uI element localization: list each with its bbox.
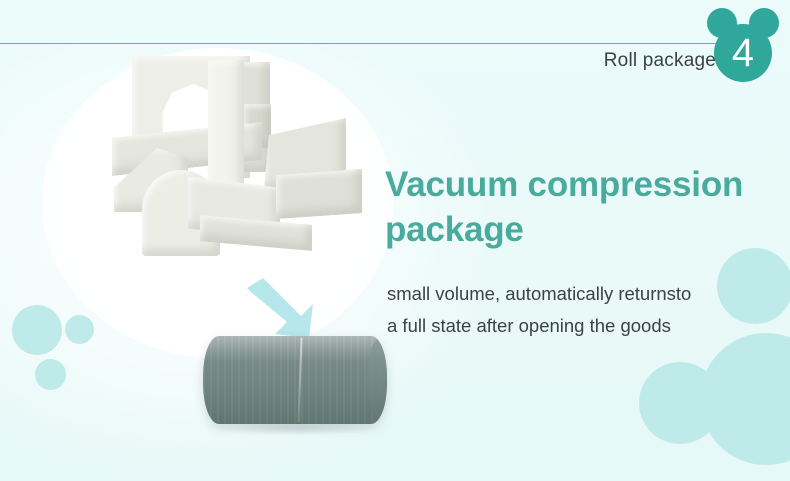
body-copy-line-1: small volume, automatically returnsto xyxy=(387,278,757,310)
header-divider xyxy=(0,43,716,44)
foam-base-seat-right xyxy=(276,169,362,219)
roll-texture xyxy=(203,336,387,424)
product-photo-foam-set xyxy=(80,52,380,292)
body-copy: small volume, automatically returnsto a … xyxy=(387,278,757,342)
headline-line-2: package xyxy=(385,208,785,253)
body-copy-line-2: a full state after opening the goods xyxy=(387,310,757,342)
flow-arrow xyxy=(243,278,315,340)
decorative-bubble xyxy=(65,315,94,344)
headline-line-1: Vacuum compression xyxy=(385,163,785,208)
down-right-arrow-icon xyxy=(243,278,315,340)
decorative-bubble xyxy=(12,305,62,355)
badge-number: 4 xyxy=(714,24,772,82)
headline: Vacuum compression package xyxy=(385,163,785,253)
decorative-bubble xyxy=(639,362,721,444)
compressed-roll-package xyxy=(203,336,387,424)
header-label: Roll package xyxy=(604,50,716,72)
roll-end-cap xyxy=(367,338,387,422)
promo-banner: Roll package 4 xyxy=(0,0,790,481)
decorative-bubble xyxy=(35,359,66,390)
step-badge: 4 xyxy=(704,6,782,88)
